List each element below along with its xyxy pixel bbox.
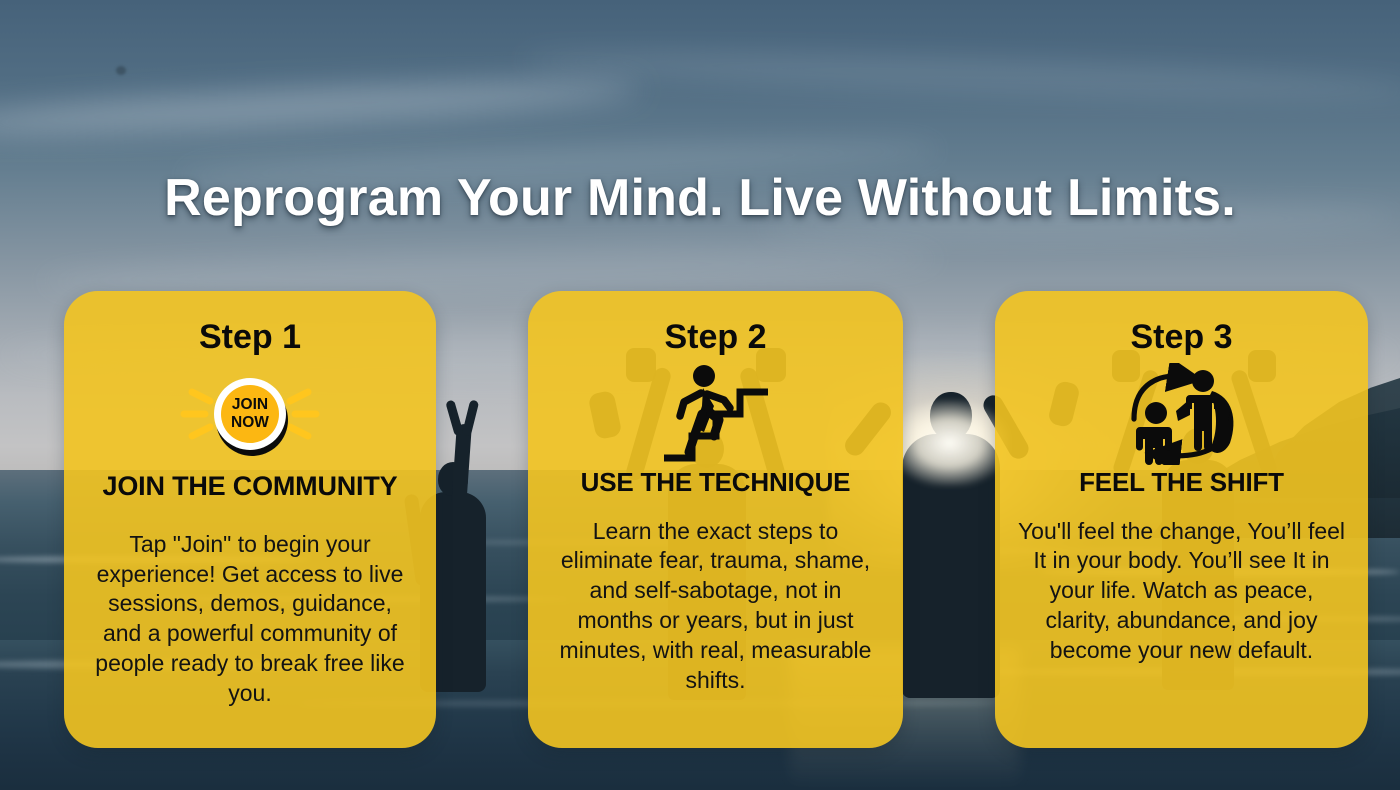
step-2-heading: USE THE TECHNIQUE [542,468,889,497]
steps-container: Step 1 [0,0,1400,790]
step-card-2[interactable]: Step 2 [528,291,903,748]
slide-canvas: Reprogram Your Mind. Live Without Limits… [0,0,1400,790]
badge-line-2: NOW [231,414,269,431]
step-3-heading: FEEL THE SHIFT [1009,468,1354,497]
step-3-icon-wrap [1009,364,1354,464]
step-2-icon-wrap [542,364,889,464]
badge-line-1: JOIN [232,396,268,413]
step-1-icon-wrap: JOIN NOW [78,360,422,468]
step-label: Step 2 [542,320,889,354]
step-1-heading: JOIN THE COMMUNITY [78,472,422,502]
step-card-3[interactable]: Step 3 [995,291,1368,748]
step-3-body: You'll feel the change, You’ll feel It i… [1009,517,1354,666]
person-climbing-stairs-icon [658,362,774,466]
person-to-superhero-transformation-icon [1120,363,1244,465]
step-2-body: Learn the exact steps to eliminate fear,… [542,517,889,696]
join-now-badge-icon[interactable]: JOIN NOW [170,364,330,464]
step-card-1[interactable]: Step 1 [64,291,436,748]
step-label: Step 1 [78,320,422,354]
step-label: Step 3 [1009,320,1354,354]
step-1-body: Tap "Join" to begin your experience! Get… [78,530,422,709]
